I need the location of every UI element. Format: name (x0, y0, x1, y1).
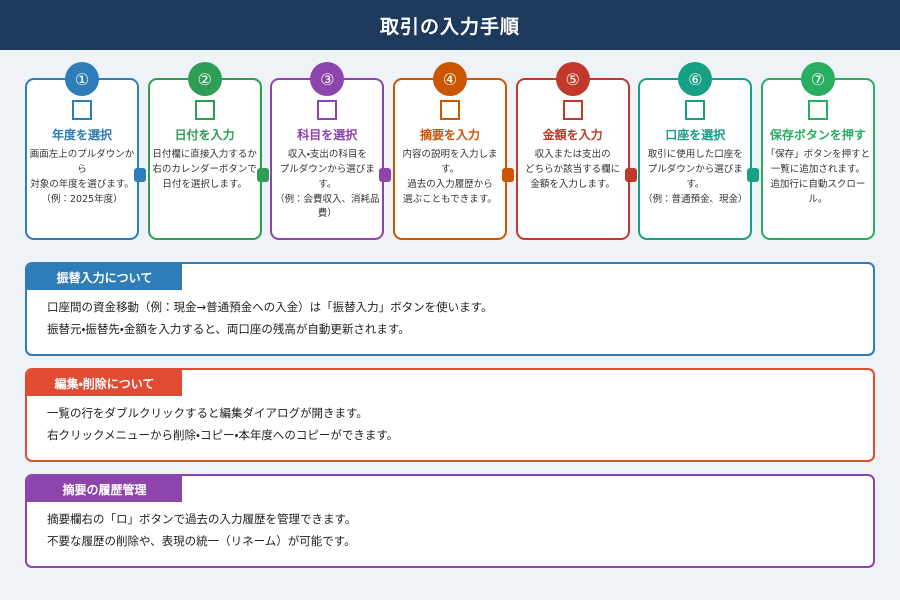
step-description: 日付欄に直接入力するか 右のカレンダーボタンで 日付を選択します。 (151, 148, 258, 192)
step-card-4[interactable]: ④摘要を入力内容の説明を入力します。 過去の入力履歴から 選ぶこともできます。 (393, 78, 507, 240)
step-title: 口座を選択 (665, 128, 725, 142)
step-number-badge: ⑦ (801, 62, 835, 96)
info-panel-2: 編集・削除について一覧の行をダブルクリックすると編集ダイアログが開きます。右クリ… (25, 368, 875, 462)
info-panel-line: 右クリックメニューから削除・コピー・本年度へのコピーができます。 (27, 424, 873, 446)
step-title: 摘要を入力 (420, 128, 480, 142)
info-panel-line: 摘要欄右の「ロ」ボタンで過去の入力履歴を管理できます。 (27, 508, 873, 530)
step-title: 科目を選択 (297, 128, 357, 142)
square-outline-icon (685, 100, 705, 120)
info-panel-heading: 振替入力について (27, 264, 182, 290)
step-description: 収入または支出の どちらか該当する欄に 金額を入力します。 (524, 148, 621, 192)
step-title: 金額を入力 (543, 128, 603, 142)
step-description: 収入・支出の科目を プルダウンから選びます。 （例：会費収入、消耗品費） (272, 148, 382, 222)
step-card-7[interactable]: ⑦保存ボタンを押す「保存」ボタンを押すと 一覧に追加されます。 追加行に自動スク… (761, 78, 875, 240)
step-title: 保存ボタンを押す (770, 128, 866, 142)
step-connector-dot (502, 168, 514, 182)
page-header: 取引の入力手順 (0, 0, 900, 50)
step-description: 画面左上のプルダウンから 対象の年度を選びます。 （例：2025年度） (27, 148, 137, 207)
step-connector-dot (379, 168, 391, 182)
step-connector-dot (747, 168, 759, 182)
step-number-badge: ④ (433, 62, 467, 96)
info-panel-line: 口座間の資金移動（例：現金→普通預金への入金）は「振替入力」ボタンを使います。 (27, 296, 873, 318)
step-connector-dot (625, 168, 637, 182)
square-outline-icon (72, 100, 92, 120)
step-number-badge: ⑥ (678, 62, 712, 96)
page-title: 取引の入力手順 (380, 12, 520, 39)
step-card-5[interactable]: ⑤金額を入力収入または支出の どちらか該当する欄に 金額を入力します。 (516, 78, 630, 240)
info-panel-heading: 編集・削除について (27, 370, 182, 396)
steps-section: ①年度を選択画面左上のプルダウンから 対象の年度を選びます。 （例：2025年度… (0, 50, 900, 248)
info-panel-line: 振替元・振替先・金額を入力すると、両口座の残高が自動更新されます。 (27, 318, 873, 340)
info-panel-3: 摘要の履歴管理摘要欄右の「ロ」ボタンで過去の入力履歴を管理できます。不要な履歴の… (25, 474, 875, 568)
step-description: 取引に使用した口座を プルダウンから選びます。 （例：普通預金、現金） (640, 148, 750, 207)
square-outline-icon (808, 100, 828, 120)
steps-row: ①年度を選択画面左上のプルダウンから 対象の年度を選びます。 （例：2025年度… (0, 78, 900, 240)
step-card-6[interactable]: ⑥口座を選択取引に使用した口座を プルダウンから選びます。 （例：普通預金、現金… (638, 78, 752, 240)
info-panels-section: 振替入力について口座間の資金移動（例：現金→普通預金への入金）は「振替入力」ボタ… (0, 248, 900, 568)
step-number-badge: ② (188, 62, 222, 96)
step-title: 日付を入力 (175, 128, 235, 142)
step-connector-dot (257, 168, 269, 182)
step-card-2[interactable]: ②日付を入力日付欄に直接入力するか 右のカレンダーボタンで 日付を選択します。 (148, 78, 262, 240)
info-panel-line: 不要な履歴の削除や、表現の統一（リネーム）が可能です。 (27, 530, 873, 552)
info-panel-heading: 摘要の履歴管理 (27, 476, 182, 502)
step-title: 年度を選択 (52, 128, 112, 142)
square-outline-icon (440, 100, 460, 120)
step-description: 「保存」ボタンを押すと 一覧に追加されます。 追加行に自動スクロール。 (763, 148, 873, 207)
step-card-3[interactable]: ③科目を選択収入・支出の科目を プルダウンから選びます。 （例：会費収入、消耗品… (270, 78, 384, 240)
step-number-badge: ⑤ (556, 62, 590, 96)
step-connector-dot (134, 168, 146, 182)
info-panel-1: 振替入力について口座間の資金移動（例：現金→普通預金への入金）は「振替入力」ボタ… (25, 262, 875, 356)
square-outline-icon (563, 100, 583, 120)
step-number-badge: ③ (310, 62, 344, 96)
square-outline-icon (195, 100, 215, 120)
square-outline-icon (317, 100, 337, 120)
info-panel-line: 一覧の行をダブルクリックすると編集ダイアログが開きます。 (27, 402, 873, 424)
step-card-1[interactable]: ①年度を選択画面左上のプルダウンから 対象の年度を選びます。 （例：2025年度… (25, 78, 139, 240)
step-description: 内容の説明を入力します。 過去の入力履歴から 選ぶこともできます。 (395, 148, 505, 207)
step-number-badge: ① (65, 62, 99, 96)
